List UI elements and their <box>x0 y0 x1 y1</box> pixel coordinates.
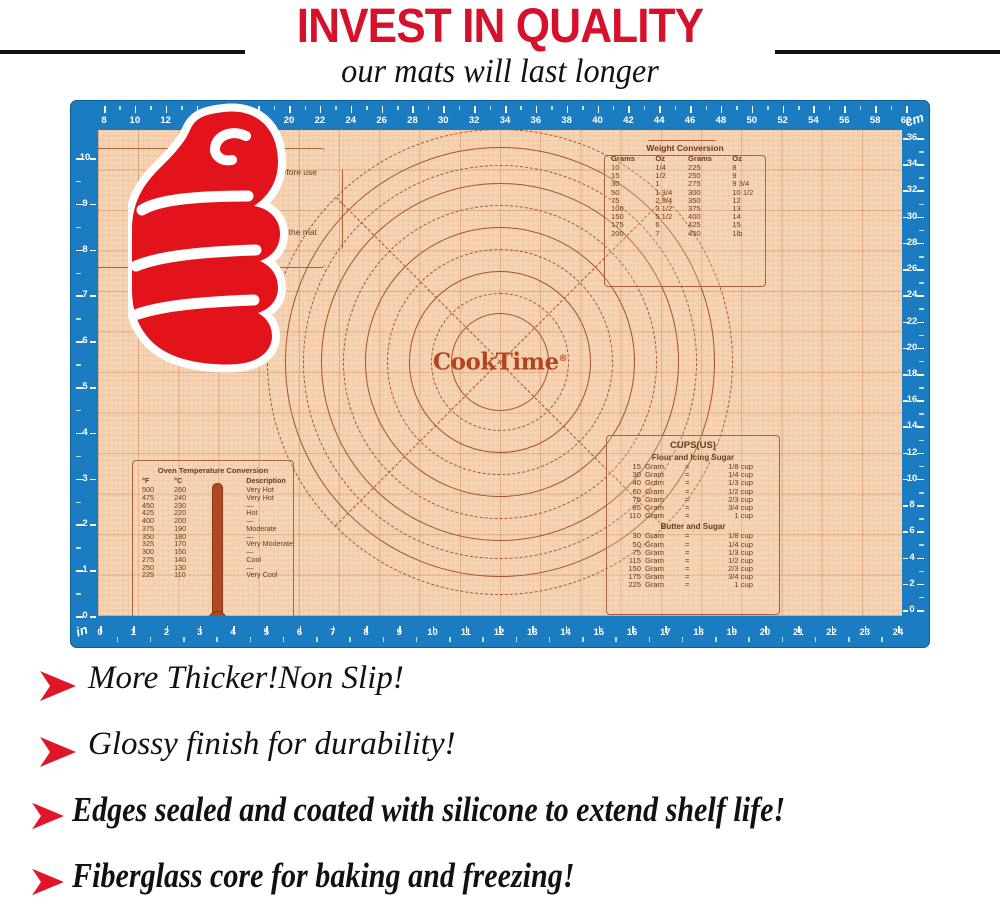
list-item: Edges sealed and coated with silicone to… <box>0 787 1000 853</box>
ruler-tick <box>881 637 883 642</box>
ruler-tick <box>520 106 522 110</box>
table-row: 1003 1/237513 <box>605 205 765 213</box>
ruler-tick <box>919 230 924 232</box>
ruler-tick <box>903 400 908 402</box>
ruler-tick <box>829 106 831 110</box>
ruler-tick <box>919 177 924 179</box>
ruler-tick <box>549 637 551 642</box>
ruler-tick <box>383 637 385 642</box>
ruler-tick <box>335 106 337 110</box>
ruler-label: 1 <box>125 627 141 638</box>
ruler-tick <box>903 138 908 140</box>
ruler-tick <box>90 570 96 572</box>
ruler-tick <box>567 106 569 113</box>
ruler-tick <box>598 106 600 113</box>
ruler-tick <box>903 558 908 560</box>
table-cell: = <box>679 565 699 573</box>
ruler-label: 18 <box>691 627 707 638</box>
ruler-tick <box>919 492 924 494</box>
table-cell: 225 <box>133 571 168 579</box>
ruler-label: 7 <box>325 627 341 638</box>
ruler-tick <box>90 387 96 389</box>
ruler-tick <box>90 295 96 297</box>
ruler-tick <box>782 637 784 642</box>
table-cell: 1/2 <box>649 172 682 180</box>
ruler-tick <box>919 413 924 415</box>
ruler-tick <box>90 204 96 206</box>
cups-us-title: CUPS(US) <box>607 436 779 451</box>
weight-conversion-title: Weight Conversion <box>605 143 765 153</box>
ruler-tick <box>459 106 461 110</box>
ruler-tick <box>783 106 785 113</box>
table-cell: Gram <box>641 512 679 520</box>
ruler-label: 44 <box>651 115 667 126</box>
table-row: 110Gram=1 cup <box>607 512 779 520</box>
table-cell: 225 <box>607 581 641 589</box>
ruler-tick <box>283 637 285 642</box>
ruler-tick <box>613 106 615 110</box>
ruler-label: 10 <box>425 627 441 638</box>
ruler-tick <box>582 106 584 110</box>
ruler-label: 16 <box>624 627 640 638</box>
table-row: 501 3/430010 1/2 <box>605 189 765 197</box>
ruler-tick <box>443 106 445 113</box>
ruler-tick <box>150 637 152 642</box>
ruler-label: 46 <box>682 115 698 126</box>
ruler-tick <box>919 571 924 573</box>
ruler-tick <box>516 637 518 642</box>
table-cell: 1 cup <box>699 581 779 589</box>
table-row: 1505 1/240014 <box>605 213 765 221</box>
ruler-label: 19 <box>724 627 740 638</box>
arrow-bullet-icon <box>38 669 78 703</box>
ruler-tick <box>813 106 815 113</box>
ruler-tick <box>119 106 121 110</box>
ruler-label: 12 <box>491 627 507 638</box>
ruler-tick <box>903 610 908 612</box>
ruler-label: 36 <box>528 115 544 126</box>
table-cell: = <box>679 549 699 557</box>
table-row: 101/42258 <box>605 164 765 172</box>
ruler-label: 50 <box>744 115 760 126</box>
ruler-tick <box>919 151 924 153</box>
ruler-tick <box>919 466 924 468</box>
thermometer-stem <box>212 483 223 616</box>
ruler-tick <box>76 547 81 549</box>
ruler-tick <box>903 295 908 297</box>
ruler-label: 11 <box>458 627 474 638</box>
ruler-tick <box>536 106 538 113</box>
table-cell: 1lb <box>726 230 765 238</box>
ruler-tick <box>815 637 817 642</box>
ruler-tick <box>104 106 106 113</box>
feature-bullet-list: More Thicker!Non Slip!Glossy finish for … <box>0 655 1000 919</box>
cups-table: 30Gram=1/8 cup50Gram=1/4 cup75Gram=1/3 c… <box>607 532 779 589</box>
ruler-tick <box>250 637 252 642</box>
registered-mark: ® <box>559 354 568 364</box>
ruler-tick <box>767 106 769 110</box>
ruler-tick <box>919 361 924 363</box>
ruler-tick <box>875 106 877 113</box>
ruler-label: 5 <box>258 627 274 638</box>
ruler-label: 24 <box>890 627 906 638</box>
ruler-tick <box>721 106 723 113</box>
cups-table: 15Gram=1/8 cup30Gram=1/4 cup40Gram=1/3 c… <box>607 463 779 520</box>
table-cell: = <box>679 541 699 549</box>
table-cell: = <box>679 496 699 504</box>
list-item-label: Glossy finish for durability! <box>88 721 456 767</box>
ruler-tick <box>675 106 677 110</box>
ruler-tick <box>490 106 492 110</box>
ruler-tick <box>903 217 908 219</box>
ruler-tick <box>76 364 81 366</box>
ruler-tick <box>615 637 617 642</box>
ruler-label: 24 <box>343 115 359 126</box>
ruler-tick <box>682 637 684 642</box>
table-cell: = <box>679 479 699 487</box>
ruler-tick <box>582 637 584 642</box>
ruler-label: 28 <box>404 115 420 126</box>
ruler-tick <box>903 322 908 324</box>
ruler-label: 26 <box>374 115 390 126</box>
ruler-label: 32 <box>466 115 482 126</box>
table-cell: = <box>679 504 699 512</box>
table-row: 20074501lb <box>605 230 765 238</box>
list-item: Glossy finish for durability! <box>0 721 1000 787</box>
ruler-tick <box>449 637 451 642</box>
ruler-label: 56 <box>836 115 852 126</box>
list-item-label: More Thicker!Non Slip! <box>88 655 404 701</box>
ruler-tick <box>628 106 630 113</box>
table-header-row: GramsOzGramsOz <box>605 153 765 164</box>
ruler-tick <box>316 637 318 642</box>
ruler-label: 42 <box>620 115 636 126</box>
ruler-tick <box>428 106 430 110</box>
ruler-tick <box>903 531 908 533</box>
ruler-tick <box>903 164 908 166</box>
ruler-tick <box>76 410 81 412</box>
table-cell: 110 <box>168 571 200 579</box>
ruler-label: 22 <box>824 627 840 638</box>
ruler-label: 3 <box>192 627 208 638</box>
ruler-tick <box>919 335 924 337</box>
ruler-label: 30 <box>435 115 451 126</box>
ruler-tick <box>919 440 924 442</box>
ruler-tick <box>903 584 908 586</box>
table-cell: Gram <box>641 581 679 589</box>
ruler-tick <box>76 227 81 229</box>
ruler-tick <box>90 158 96 160</box>
ruler-tick <box>919 544 924 546</box>
ruler-label: 15 <box>591 627 607 638</box>
table-cell: = <box>679 557 699 565</box>
ruler-tick <box>748 637 750 642</box>
weight-conversion-table: GramsOzGramsOz 101/42258151/225093012759… <box>605 153 765 238</box>
ruler-tick <box>90 341 96 343</box>
table-cell: 110 <box>607 512 641 520</box>
ruler-tick <box>474 106 476 113</box>
ruler-tick <box>844 106 846 113</box>
ruler-tick <box>919 597 924 599</box>
table-cell: = <box>679 581 699 589</box>
brand-logo-text: CookTime <box>433 349 559 376</box>
ruler-tick <box>906 106 908 113</box>
ruler-tick <box>903 426 908 428</box>
ruler-tick <box>649 637 651 642</box>
ruler-tick <box>482 637 484 642</box>
table-cell: = <box>679 573 699 581</box>
thermometer-bulb <box>208 611 227 616</box>
ruler-tick <box>76 456 81 458</box>
arrow-bullet-icon <box>30 867 66 897</box>
ruler-tick <box>76 181 81 183</box>
ruler-tick <box>903 505 908 507</box>
ruler-tick <box>216 637 218 642</box>
table-cell: = <box>679 471 699 479</box>
ruler-label: 34 <box>497 115 513 126</box>
ruler-tick <box>736 106 738 110</box>
ruler-tick <box>706 106 708 110</box>
table-row: 752 3/435012 <box>605 197 765 205</box>
ruler-tick <box>659 106 661 113</box>
ruler-tick <box>891 106 893 110</box>
list-item-label: Edges sealed and coated with silicone to… <box>72 787 785 833</box>
ruler-tick <box>90 433 96 435</box>
ruler-label: 17 <box>657 627 673 638</box>
ruler-tick <box>919 387 924 389</box>
page-subtitle: our mats will last longer <box>25 52 975 92</box>
ruler-tick <box>349 637 351 642</box>
table-cell: = <box>679 512 699 520</box>
cups-us-box: CUPS(US) Flour and Icing Sugar15Gram=1/8… <box>606 435 780 615</box>
table-cell: = <box>679 488 699 496</box>
ruler-tick <box>715 637 717 642</box>
ruler-tick <box>351 106 353 113</box>
weight-conversion-box: Weight Conversion GramsOzGramsOz 101/422… <box>604 155 766 287</box>
brand-logo: CookTime® <box>433 349 567 376</box>
list-item: More Thicker!Non Slip! <box>0 655 1000 721</box>
ruler-label: 48 <box>713 115 729 126</box>
ruler-label: 40 <box>590 115 606 126</box>
ruler-tick <box>903 190 908 192</box>
ruler-label: 58 <box>867 115 883 126</box>
ruler-tick <box>903 269 908 271</box>
ruler-tick <box>752 106 754 113</box>
ruler-tick <box>919 256 924 258</box>
ruler-tick <box>644 106 646 110</box>
ruler-label: 21 <box>790 627 806 638</box>
ruler-tick <box>919 308 924 310</box>
ruler-tick <box>551 106 553 110</box>
arrow-bullet-icon <box>30 801 66 831</box>
ruler-tick <box>903 348 908 350</box>
ruler-label: 13 <box>524 627 540 638</box>
thermometer-icon <box>209 483 224 616</box>
ruler-label: 4 <box>225 627 241 638</box>
ruler-label: 14 <box>558 627 574 638</box>
ruler-tick <box>416 637 418 642</box>
header-banner: INVEST IN QUALITY our mats will last lon… <box>0 0 1000 100</box>
ruler-tick <box>919 282 924 284</box>
ruler-tick <box>90 479 96 481</box>
baking-mat-image: 8101214161820222426283032343638404244464… <box>70 100 930 648</box>
ruler-tick <box>903 453 908 455</box>
table-cell: 200 <box>605 230 649 238</box>
ruler-tick <box>798 106 800 110</box>
table-cell: 5 1/2 <box>649 213 682 221</box>
ruler-tick <box>76 502 81 504</box>
ruler-tick <box>90 524 96 526</box>
ruler-label: 54 <box>805 115 821 126</box>
ruler-tick <box>90 250 96 252</box>
ruler-tick <box>903 374 908 376</box>
ruler-tick <box>366 106 368 110</box>
arrow-bullet-icon <box>38 735 78 769</box>
table-cell: 6 <box>649 221 682 229</box>
page-title: INVEST IN QUALITY <box>40 2 960 52</box>
ruler-label: 52 <box>775 115 791 126</box>
ruler-tick <box>848 637 850 642</box>
table-cell: = <box>679 463 699 471</box>
table-cell: 1 cup <box>699 512 779 520</box>
ruler-tick <box>860 106 862 110</box>
list-item-label: Fiberglass core for baking and freezing! <box>72 853 575 899</box>
ruler-label: 6 <box>292 627 308 638</box>
ruler-label: 38 <box>559 115 575 126</box>
ruler-tick <box>183 637 185 642</box>
ruler-tick <box>117 637 119 642</box>
ruler-label: 9 <box>391 627 407 638</box>
ruler-label: 0 <box>92 627 108 638</box>
table-cell: 450 <box>682 230 726 238</box>
ruler-tick <box>76 593 81 595</box>
ruler-tick <box>397 106 399 110</box>
ruler-tick <box>90 616 96 618</box>
ruler-tick <box>76 273 81 275</box>
ruler-tick <box>412 106 414 113</box>
list-item: Fiberglass core for baking and freezing! <box>0 853 1000 919</box>
ruler-tick <box>903 243 908 245</box>
table-row: 225Gram=1 cup <box>607 581 779 589</box>
oven-temperature-title: Oven Temperature Conversion <box>133 461 293 475</box>
ruler-label: 20 <box>757 627 773 638</box>
ruler-label: 23 <box>857 627 873 638</box>
ruler-tick <box>919 204 924 206</box>
thumbs-up-icon <box>128 100 328 390</box>
oven-temperature-box: Oven Temperature Conversion °F°CDescript… <box>132 460 294 616</box>
ruler-tick <box>505 106 507 113</box>
ruler-label: 8 <box>358 627 374 638</box>
table-cell: = <box>679 532 699 540</box>
ruler-label: 2 <box>159 627 175 638</box>
table-cell: 7 <box>649 230 682 238</box>
ruler-tick <box>382 106 384 113</box>
ruler-tick <box>76 318 81 320</box>
ruler-tick <box>903 479 908 481</box>
ruler-label: 8 <box>96 115 112 126</box>
ruler-tick <box>919 518 924 520</box>
ruler-tick <box>690 106 692 113</box>
